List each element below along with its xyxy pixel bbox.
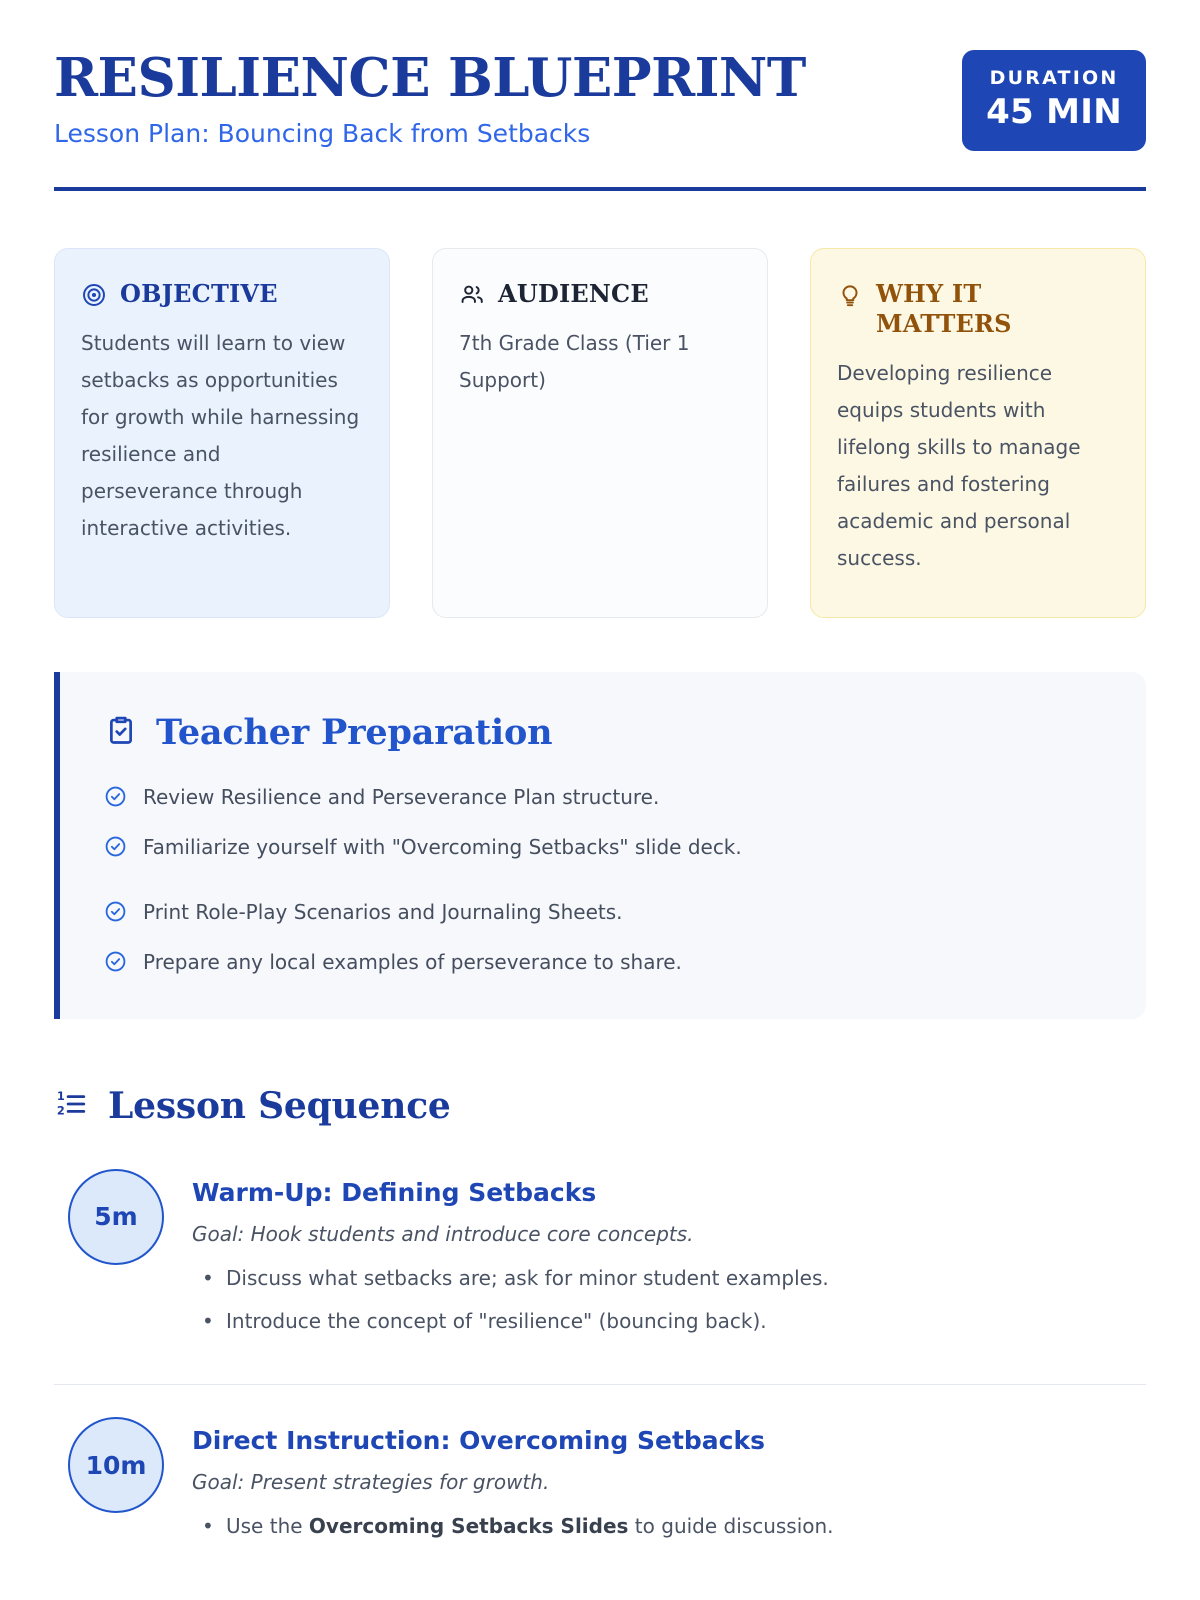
bullet-text: Discuss what setbacks are; ask for minor… — [226, 1266, 829, 1290]
list-item: Review Resilience and Perseverance Plan … — [104, 783, 1102, 812]
lesson-step: 5m Warm-Up: Defining Setbacks Goal: Hook… — [54, 1137, 1146, 1350]
check-circle-icon — [104, 900, 127, 923]
bullet-text-tail: to guide discussion. — [628, 1514, 833, 1538]
list-item-label: Review Resilience and Perseverance Plan … — [143, 783, 659, 812]
duration-value: 45 MIN — [986, 93, 1122, 132]
list-item: Print Role-Play Scenarios and Journaling… — [104, 898, 1102, 927]
duration-label: DURATION — [986, 67, 1122, 90]
step-bullet-list: Discuss what setbacks are; ask for minor… — [192, 1264, 1146, 1335]
duration-badge: DURATION 45 MIN — [962, 50, 1146, 151]
step-bullet-list: Use the Overcoming Setbacks Slides to gu… — [192, 1512, 1146, 1540]
info-card-row: OBJECTIVE Students will learn to view se… — [54, 248, 1146, 618]
lightbulb-icon — [837, 282, 863, 308]
step-content: Direct Instruction: Overcoming Setbacks … — [192, 1417, 1146, 1555]
lesson-step: 10m Direct Instruction: Overcoming Setba… — [54, 1384, 1146, 1555]
svg-text:2: 2 — [57, 1103, 65, 1117]
header-text-block: RESILIENCE BLUEPRINT Lesson Plan: Bounci… — [54, 46, 806, 151]
step-time-badge: 10m — [68, 1417, 164, 1513]
header-divider — [54, 187, 1146, 191]
ordered-list-icon: 1 2 — [54, 1087, 88, 1125]
card-audience-header: AUDIENCE — [459, 279, 741, 309]
teacher-preparation-title: Teacher Preparation — [156, 712, 552, 753]
lesson-sequence-title: Lesson Sequence — [108, 1085, 451, 1127]
step-time-badge: 5m — [68, 1169, 164, 1265]
clipboard-check-icon — [104, 713, 138, 751]
check-circle-icon — [104, 785, 127, 808]
page-title: RESILIENCE BLUEPRINT — [54, 50, 806, 106]
target-icon — [81, 282, 107, 308]
lesson-plan-page: RESILIENCE BLUEPRINT Lesson Plan: Bounci… — [0, 0, 1200, 1600]
list-item: Introduce the concept of "resilience" (b… — [226, 1307, 1146, 1335]
preparation-checklist: Review Resilience and Perseverance Plan … — [104, 783, 1102, 977]
teacher-preparation-header: Teacher Preparation — [104, 712, 1102, 753]
step-title: Warm-Up: Defining Setbacks — [192, 1177, 1146, 1208]
card-audience-body: 7th Grade Class (Tier 1 Support) — [459, 325, 741, 399]
list-item-label: Familiarize yourself with "Overcoming Se… — [143, 833, 742, 862]
list-item: Discuss what setbacks are; ask for minor… — [226, 1264, 1146, 1292]
check-circle-icon — [104, 835, 127, 858]
bullet-emphasis: Overcoming Setbacks Slides — [309, 1514, 629, 1538]
list-item-label: Print Role-Play Scenarios and Journaling… — [143, 898, 623, 927]
list-item: Use the Overcoming Setbacks Slides to gu… — [226, 1512, 1146, 1540]
people-icon — [459, 282, 485, 308]
card-why-header: WHY IT MATTERS — [837, 279, 1119, 339]
page-subtitle: Lesson Plan: Bouncing Back from Setbacks — [54, 118, 806, 151]
card-why-title: WHY IT MATTERS — [876, 279, 1026, 339]
list-item: Prepare any local examples of perseveran… — [104, 948, 1102, 977]
step-goal: Goal: Hook students and introduce core c… — [192, 1222, 1146, 1246]
card-objective-body: Students will learn to view setbacks as … — [81, 325, 363, 547]
check-circle-icon — [104, 950, 127, 973]
step-title: Direct Instruction: Overcoming Setbacks — [192, 1425, 1146, 1456]
card-audience-title: AUDIENCE — [498, 279, 649, 309]
lesson-sequence-header: 1 2 Lesson Sequence — [54, 1085, 1146, 1127]
card-audience: AUDIENCE 7th Grade Class (Tier 1 Support… — [432, 248, 768, 618]
teacher-preparation-panel: Teacher Preparation Review Resilience an… — [54, 672, 1146, 1019]
svg-text:1: 1 — [57, 1089, 65, 1103]
card-objective-header: OBJECTIVE — [81, 279, 363, 309]
step-content: Warm-Up: Defining Setbacks Goal: Hook st… — [192, 1169, 1146, 1350]
card-objective-title: OBJECTIVE — [120, 279, 278, 309]
card-why-body: Developing resilience equips students wi… — [837, 355, 1119, 577]
list-item-label: Prepare any local examples of perseveran… — [143, 948, 682, 977]
card-why-it-matters: WHY IT MATTERS Developing resilience equ… — [810, 248, 1146, 618]
document-header: RESILIENCE BLUEPRINT Lesson Plan: Bounci… — [54, 46, 1146, 151]
list-item: Familiarize yourself with "Overcoming Se… — [104, 833, 1102, 862]
step-goal: Goal: Present strategies for growth. — [192, 1470, 1146, 1494]
bullet-text: Use the — [226, 1514, 309, 1538]
card-objective: OBJECTIVE Students will learn to view se… — [54, 248, 390, 618]
bullet-text: Introduce the concept of "resilience" (b… — [226, 1309, 767, 1333]
